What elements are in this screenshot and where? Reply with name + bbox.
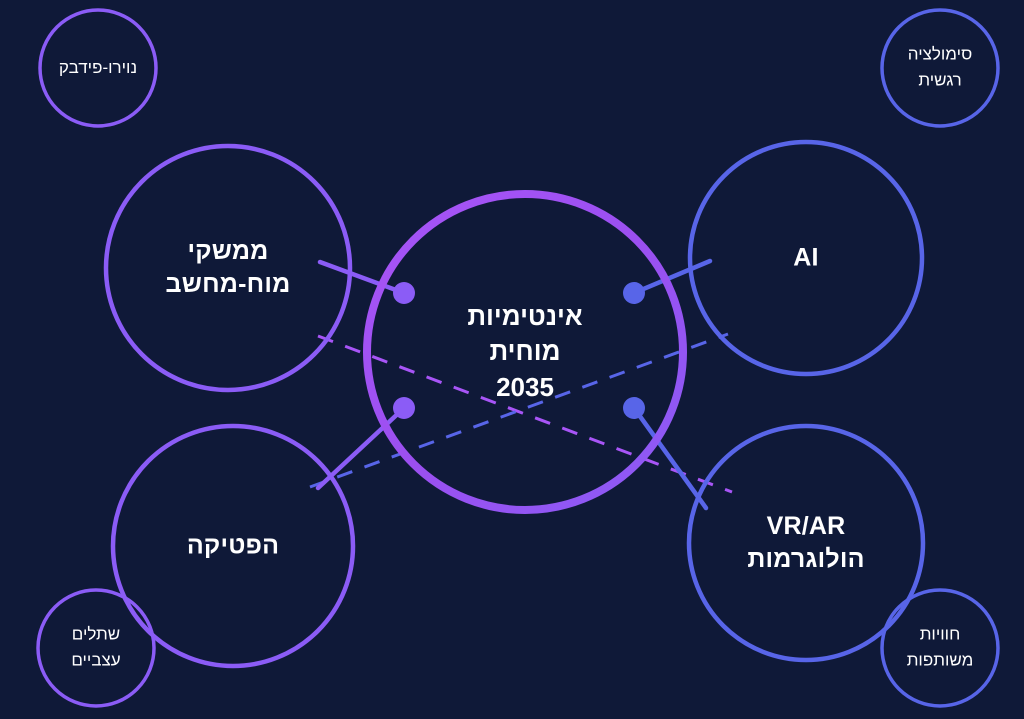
connector-dot-top-left[interactable]	[393, 282, 415, 304]
circle-neural-implants[interactable]	[38, 590, 154, 706]
circle-emotional-simulation[interactable]	[882, 10, 998, 126]
circle-ai[interactable]	[690, 142, 922, 374]
circle-shared-experiences[interactable]	[882, 590, 998, 706]
circles-layer	[38, 10, 998, 706]
diagram-svg	[0, 0, 1024, 719]
circle-brain-computer-interfaces[interactable]	[106, 146, 350, 390]
circle-neurofeedback[interactable]	[40, 10, 156, 126]
connector-dot-bottom-left[interactable]	[393, 397, 415, 419]
connector-dot-bottom-right[interactable]	[623, 397, 645, 419]
diagram-canvas: אינטימיותמוחית2035ממשקימוח-מחשבAIהפטיקהV…	[0, 0, 1024, 719]
dots-layer	[393, 282, 645, 419]
circle-haptics[interactable]	[113, 426, 353, 666]
circle-brain-intimacy-2035[interactable]	[367, 194, 683, 510]
connector-dot-top-right[interactable]	[623, 282, 645, 304]
circle-vr-ar-holograms[interactable]	[689, 426, 923, 660]
